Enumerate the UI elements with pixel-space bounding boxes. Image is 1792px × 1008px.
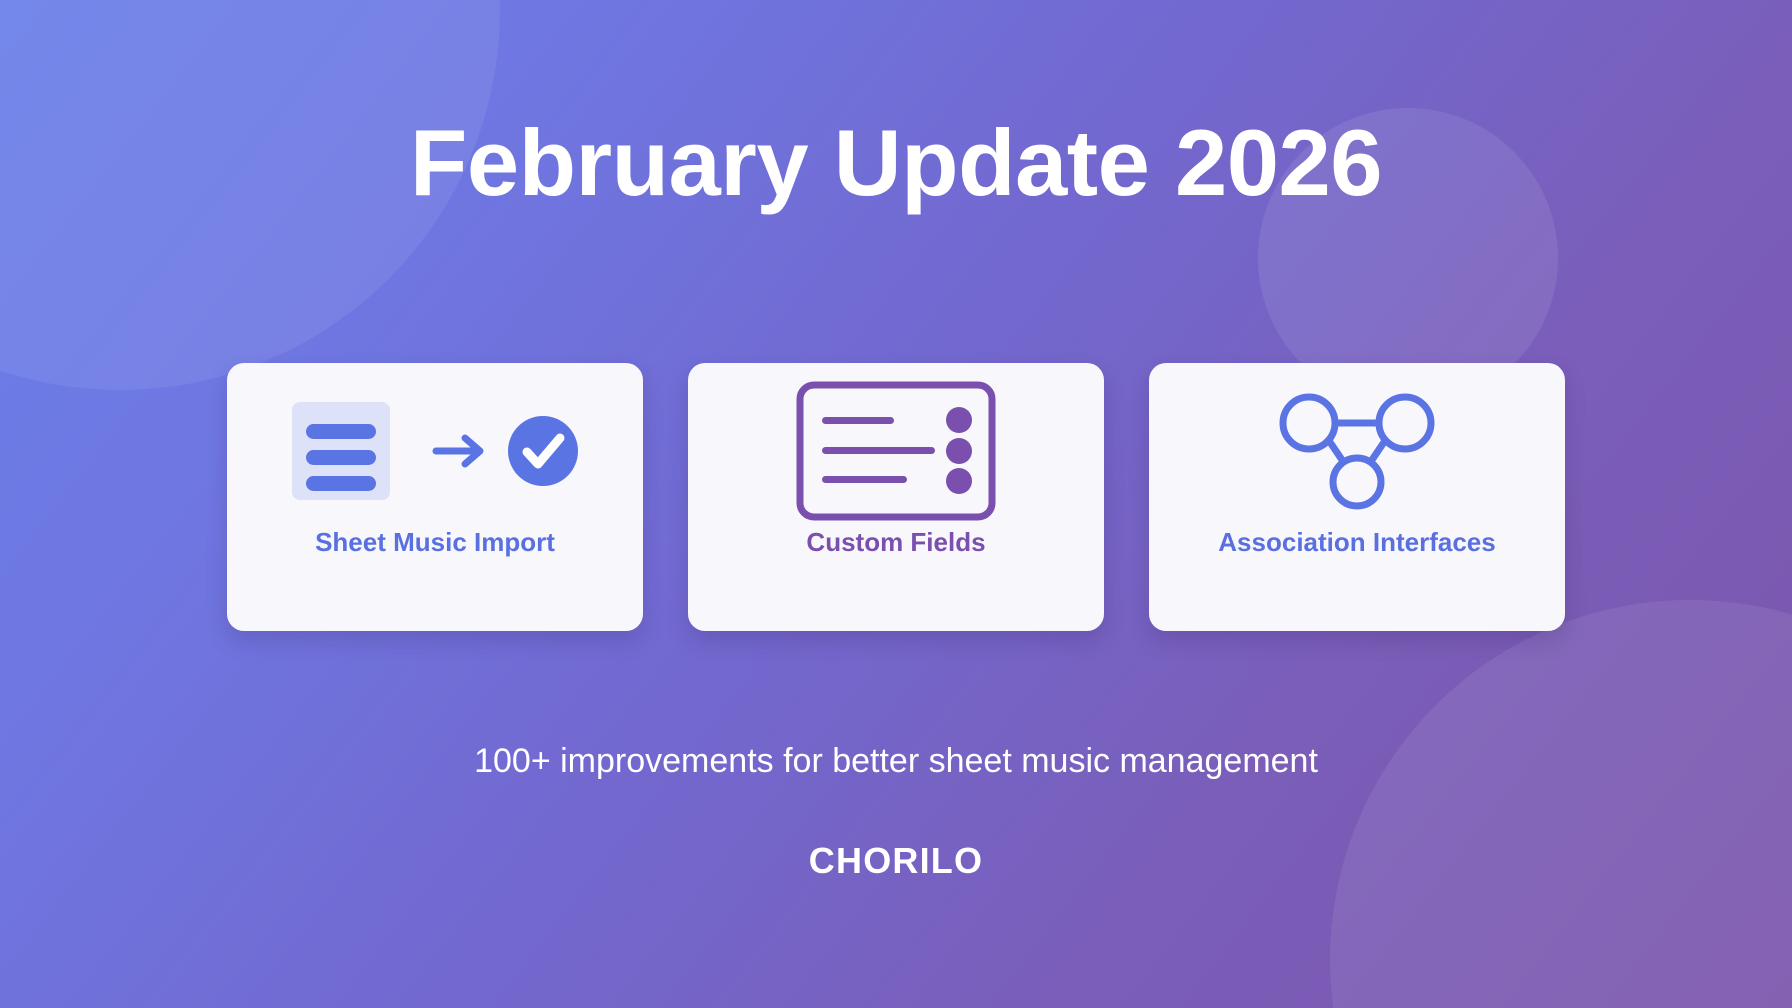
node-circle [1379, 397, 1431, 449]
form-panel-icon [796, 381, 996, 521]
tagline: 100+ improvements for better sheet music… [0, 742, 1792, 781]
field-dot [946, 468, 972, 494]
feature-card-list: Sheet Music Import Custom Fields [0, 363, 1792, 631]
field-dot [946, 407, 972, 433]
node-circle [1333, 458, 1381, 506]
form-fields-icon [796, 390, 996, 512]
association-graph-icon [1271, 390, 1443, 512]
page-title: February Update 2026 [0, 112, 1792, 214]
network-nodes-icon [1271, 390, 1443, 512]
document-line [306, 424, 376, 439]
import-flow-icon [290, 396, 580, 506]
feature-card-label: Association Interfaces [1218, 526, 1495, 559]
document-import-check-icon [290, 390, 580, 512]
field-line [822, 447, 935, 454]
brand-name: CHORILO [0, 840, 1792, 882]
feature-card-sheet-music-import[interactable]: Sheet Music Import [227, 363, 643, 631]
field-line [822, 417, 894, 424]
check-circle-icon [508, 416, 578, 486]
field-dot [946, 438, 972, 464]
promo-banner: February Update 2026 [0, 0, 1792, 1008]
field-line [822, 476, 907, 483]
document-line [306, 476, 376, 491]
feature-card-label: Sheet Music Import [315, 526, 555, 559]
arrow-right-icon [436, 438, 480, 464]
decorative-circle-bottom-right [1330, 600, 1792, 1008]
document-line [306, 450, 376, 465]
node-circle [1283, 397, 1335, 449]
feature-card-custom-fields[interactable]: Custom Fields [688, 363, 1104, 631]
feature-card-label: Custom Fields [806, 526, 985, 559]
feature-card-association-interfaces[interactable]: Association Interfaces [1149, 363, 1565, 631]
